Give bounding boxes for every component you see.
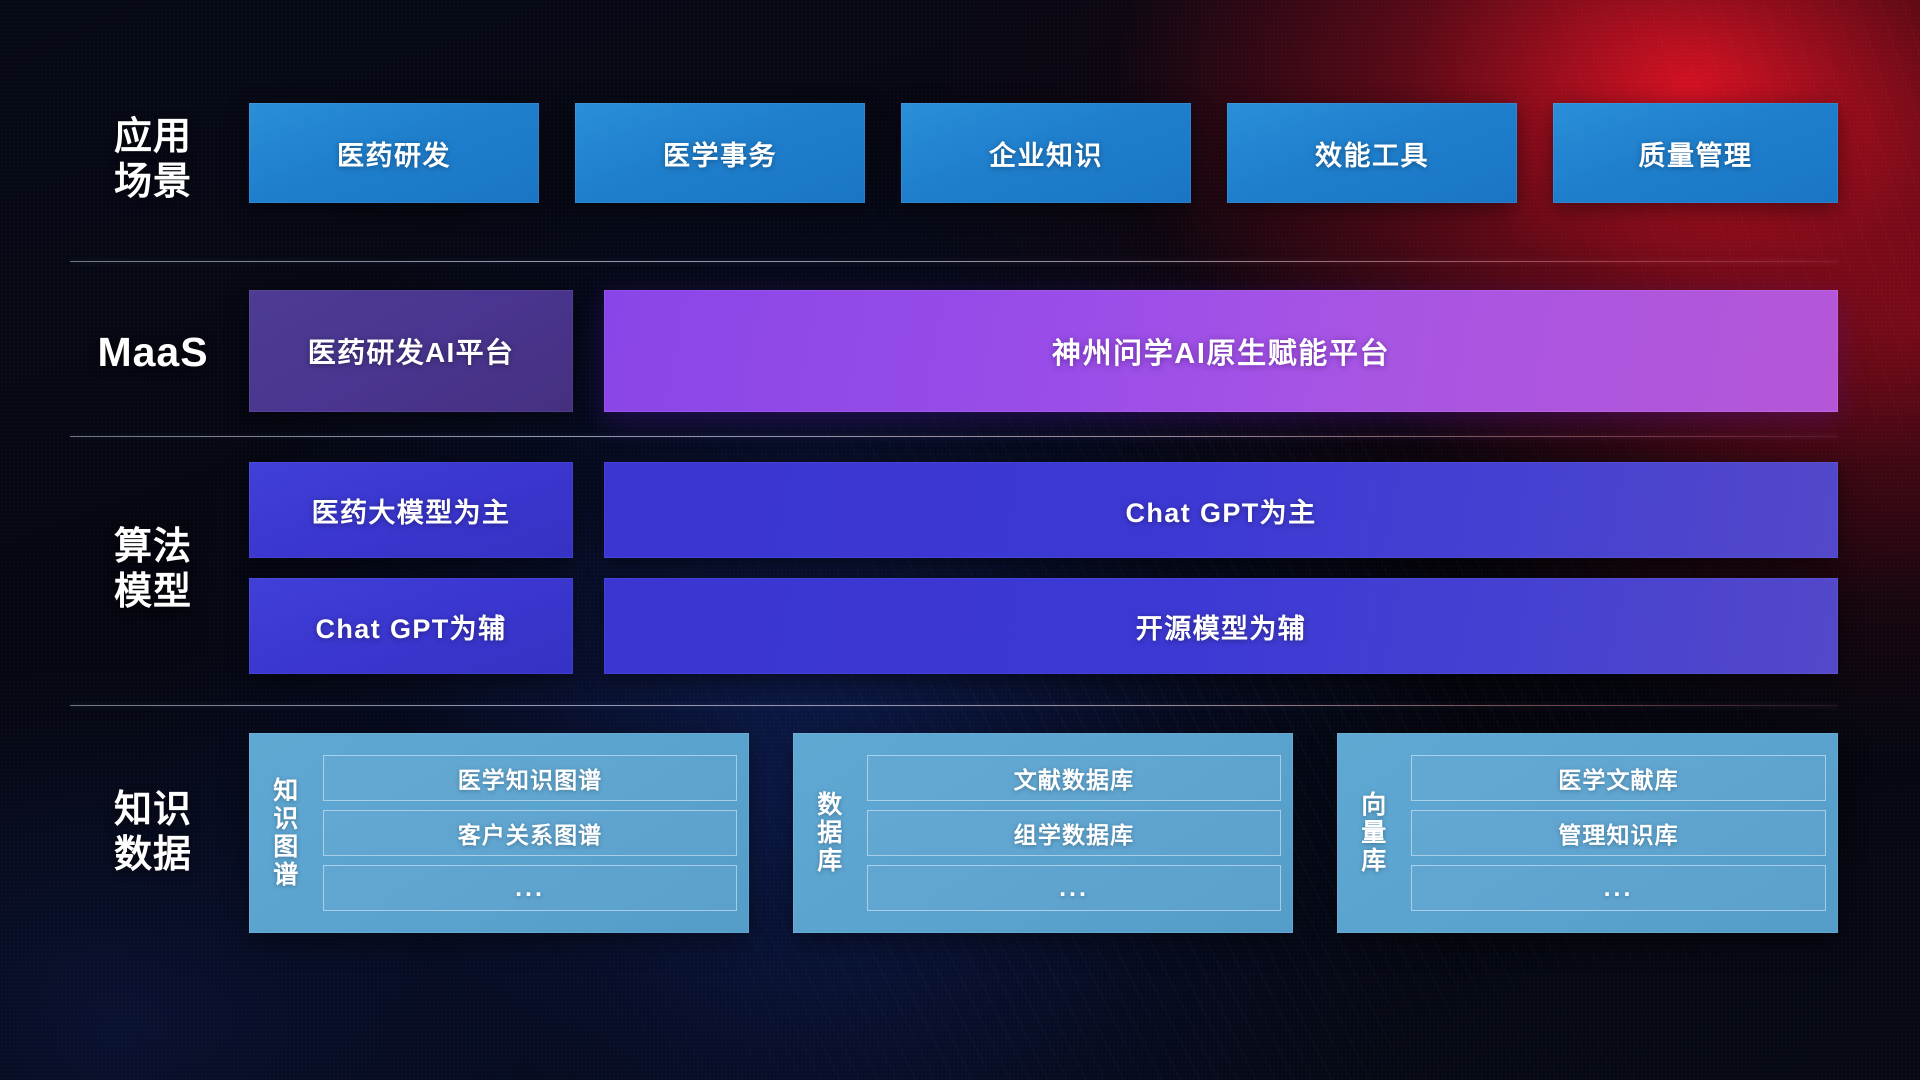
app-card-label: 质量管理 xyxy=(1639,134,1753,173)
row-algorithm-model: 算法 模型 医药大模型为主 Chat GPT为主 Chat GPT为辅 开源模型… xyxy=(0,462,1920,674)
row-label-line: 数据 xyxy=(78,833,228,878)
divider-application-maas xyxy=(70,261,1838,262)
app-card-label: 医药研发 xyxy=(337,134,451,173)
row-label-line: 场景 xyxy=(78,160,228,205)
app-card-label: 企业知识 xyxy=(989,134,1103,173)
knowledge-item[interactable]: 组学数据库 xyxy=(867,810,1281,856)
row-label-application-scenarios: 应用 场景 xyxy=(78,115,228,205)
maas-card-label: 医药研发AI平台 xyxy=(308,331,514,371)
app-card-medical-affairs[interactable]: 医学事务 xyxy=(575,103,865,203)
vlabel-char: 向 xyxy=(1361,791,1387,819)
vlabel-char: 识 xyxy=(273,805,299,833)
row-knowledge-data: 知识 数据 知 识 图 谱 医学知识图谱 客户关系图谱 ... xyxy=(0,733,1920,933)
knowledge-item[interactable]: 医学文献库 xyxy=(1411,755,1826,801)
knowledge-panel-item-list: 医学文献库 管理知识库 ... xyxy=(1411,743,1826,923)
knowledge-item[interactable]: 管理知识库 xyxy=(1411,810,1826,856)
knowledge-item-more[interactable]: ... xyxy=(1411,865,1826,911)
divider-maas-algorithm xyxy=(70,436,1838,437)
row-label-line: 应用 xyxy=(78,115,228,160)
knowledge-item[interactable]: 医学知识图谱 xyxy=(323,755,737,801)
knowledge-panel-vector-store[interactable]: 向 量 库 医学文献库 管理知识库 ... xyxy=(1337,733,1838,933)
app-card-quality-management[interactable]: 质量管理 xyxy=(1553,103,1838,203)
app-card-efficiency-tools[interactable]: 效能工具 xyxy=(1227,103,1517,203)
slide-canvas: 应用 场景 医药研发 医学事务 企业知识 效能工具 质量管理 MaaS xyxy=(0,0,1920,1080)
vlabel-char: 图 xyxy=(273,833,299,861)
knowledge-panel-item-list: 医学知识图谱 客户关系图谱 ... xyxy=(323,743,737,923)
vlabel-char: 知 xyxy=(273,777,299,805)
knowledge-panel-vertical-label: 数 据 库 xyxy=(793,743,867,923)
knowledge-panel-database[interactable]: 数 据 库 文献数据库 组学数据库 ... xyxy=(793,733,1293,933)
row-label-line: 知识 xyxy=(78,788,228,833)
algo-bar-chatgpt-secondary[interactable]: Chat GPT为辅 xyxy=(249,578,573,674)
knowledge-item-more[interactable]: ... xyxy=(323,865,737,911)
row-application-scenarios: 应用 场景 医药研发 医学事务 企业知识 效能工具 质量管理 xyxy=(0,103,1920,203)
vlabel-char: 谱 xyxy=(273,861,299,889)
row-label-line: 算法 xyxy=(78,525,228,570)
algo-bar-label: Chat GPT为主 xyxy=(1125,491,1316,530)
vlabel-char: 库 xyxy=(1361,847,1387,875)
divider-algorithm-knowledge xyxy=(70,705,1838,706)
row-label-knowledge-data: 知识 数据 xyxy=(78,788,228,878)
knowledge-panel-knowledge-graph[interactable]: 知 识 图 谱 医学知识图谱 客户关系图谱 ... xyxy=(249,733,749,933)
vlabel-char: 据 xyxy=(817,819,843,847)
algo-bar-opensource-secondary[interactable]: 开源模型为辅 xyxy=(604,578,1838,674)
knowledge-panel-vertical-label: 向 量 库 xyxy=(1337,743,1411,923)
maas-card-pharma-ai-platform[interactable]: 医药研发AI平台 xyxy=(249,290,573,412)
knowledge-item[interactable]: 客户关系图谱 xyxy=(323,810,737,856)
algo-bar-label: 医药大模型为主 xyxy=(312,491,511,530)
knowledge-panel-vertical-label: 知 识 图 谱 xyxy=(249,743,323,923)
vlabel-char: 数 xyxy=(817,791,843,819)
row-label-line: MaaS xyxy=(78,328,228,376)
app-card-label: 医学事务 xyxy=(663,134,777,173)
algo-bar-label: 开源模型为辅 xyxy=(1136,607,1306,646)
row-label-algorithm-model: 算法 模型 xyxy=(78,525,228,615)
app-card-medicine-rd[interactable]: 医药研发 xyxy=(249,103,539,203)
app-card-enterprise-knowledge[interactable]: 企业知识 xyxy=(901,103,1191,203)
vlabel-char: 库 xyxy=(817,847,843,875)
vlabel-char: 量 xyxy=(1361,819,1387,847)
row-label-line: 模型 xyxy=(78,570,228,615)
knowledge-panel-item-list: 文献数据库 组学数据库 ... xyxy=(867,743,1281,923)
knowledge-item-more[interactable]: ... xyxy=(867,865,1281,911)
row-maas: MaaS 医药研发AI平台 神州问学AI原生赋能平台 xyxy=(0,290,1920,412)
knowledge-item[interactable]: 文献数据库 xyxy=(867,755,1281,801)
algo-bar-chatgpt-primary[interactable]: Chat GPT为主 xyxy=(604,462,1838,558)
algo-bar-pharma-large-model-primary[interactable]: 医药大模型为主 xyxy=(249,462,573,558)
row-label-maas: MaaS xyxy=(78,328,228,376)
architecture-diagram: 应用 场景 医药研发 医学事务 企业知识 效能工具 质量管理 MaaS xyxy=(0,0,1920,1080)
maas-card-label: 神州问学AI原生赋能平台 xyxy=(1052,330,1390,372)
maas-card-shenzhou-wenxue-platform[interactable]: 神州问学AI原生赋能平台 xyxy=(604,290,1838,412)
app-card-label: 效能工具 xyxy=(1315,134,1429,173)
algo-bar-label: Chat GPT为辅 xyxy=(315,607,506,646)
